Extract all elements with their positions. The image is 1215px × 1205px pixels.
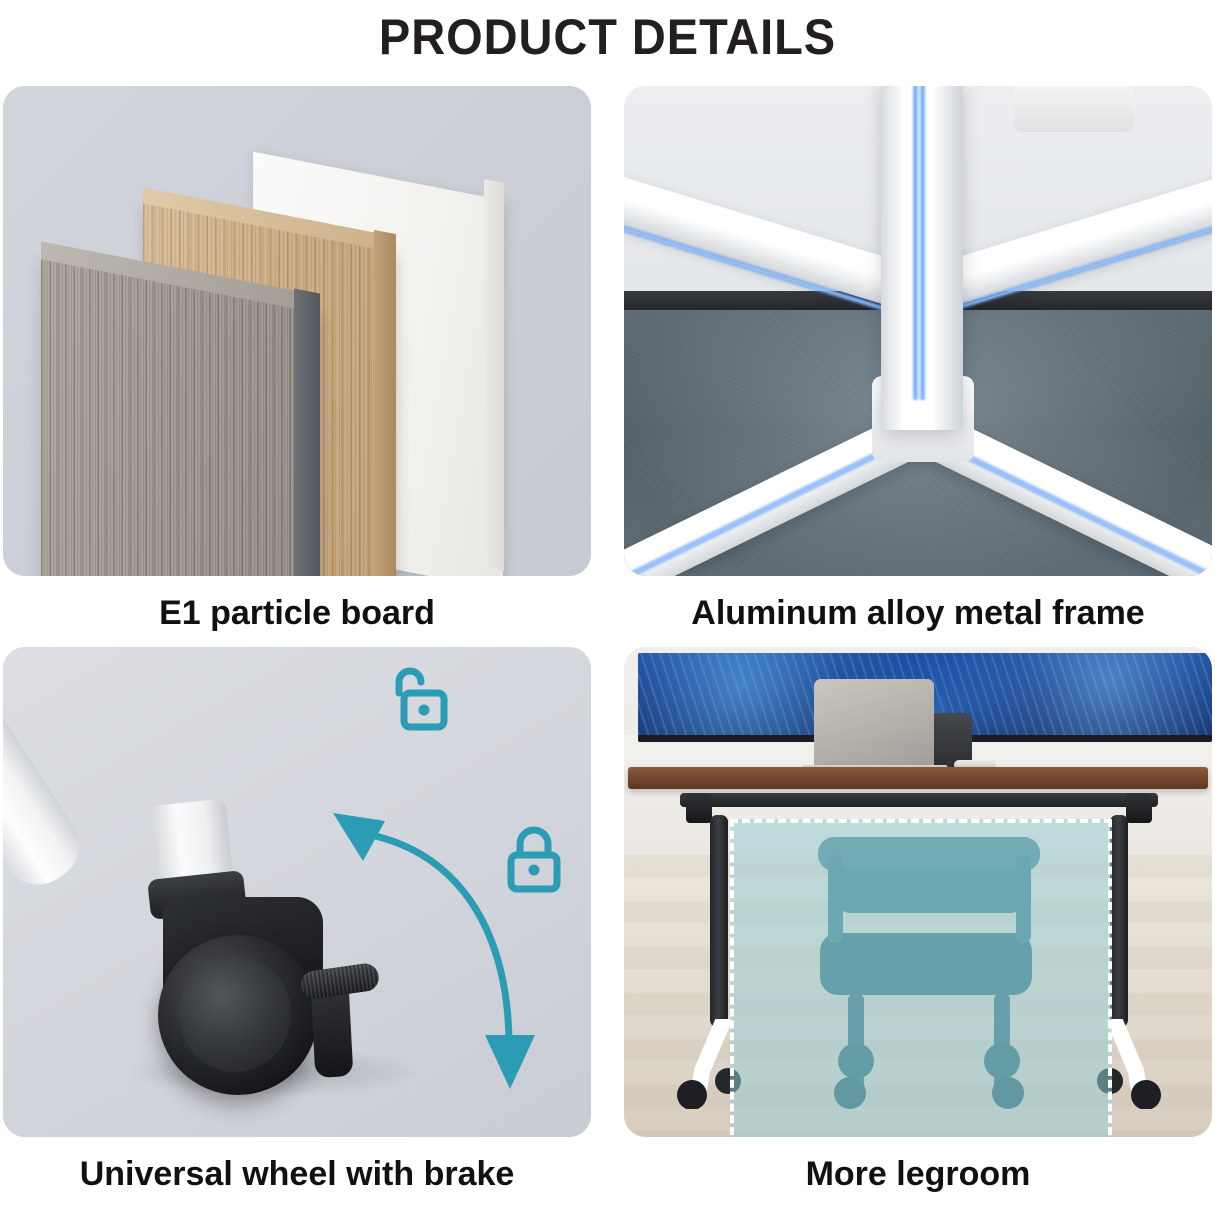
desk-leg-post-left [710, 815, 728, 1027]
panel-universal-wheel: Universal wheel with brake [3, 647, 591, 1195]
desk-bracket-right [1126, 793, 1152, 823]
caster-wheel-hub [179, 956, 291, 1072]
desk-top [628, 767, 1208, 789]
wall-fixture [1014, 86, 1134, 132]
metal-frame-image [624, 86, 1212, 576]
panel-more-legroom: More legroom [624, 647, 1212, 1195]
panel-particle-board: E1 particle board [3, 86, 591, 634]
desk-leg-post-right [1110, 815, 1128, 1027]
lock-icon [503, 823, 565, 895]
legroom-highlight-area [730, 819, 1112, 1137]
white-board-edge [484, 179, 504, 571]
unlock-icon [386, 665, 448, 735]
caption-more-legroom: More legroom [624, 1153, 1212, 1195]
caption-metal-frame: Aluminum alloy metal frame [624, 592, 1212, 634]
universal-wheel-image [3, 647, 591, 1137]
oak-board-side-edge [374, 230, 396, 576]
page-title: PRODUCT DETAILS [36, 0, 1178, 68]
laptop-lid [814, 679, 934, 769]
desk-bracket-left [686, 793, 712, 823]
caption-particle-board: E1 particle board [3, 592, 591, 634]
more-legroom-image [624, 647, 1212, 1137]
caption-universal-wheel: Universal wheel with brake [3, 1153, 591, 1195]
desk-support-rail [680, 793, 1158, 807]
panel-metal-frame: Aluminum alloy metal frame [624, 86, 1212, 634]
gray-board [41, 258, 313, 576]
particle-board-image [3, 86, 591, 576]
product-details-grid: E1 particle board Aluminum alloy metal f… [0, 86, 1215, 1205]
glow-line-column [912, 86, 926, 400]
gray-board-side-edge [294, 288, 320, 576]
